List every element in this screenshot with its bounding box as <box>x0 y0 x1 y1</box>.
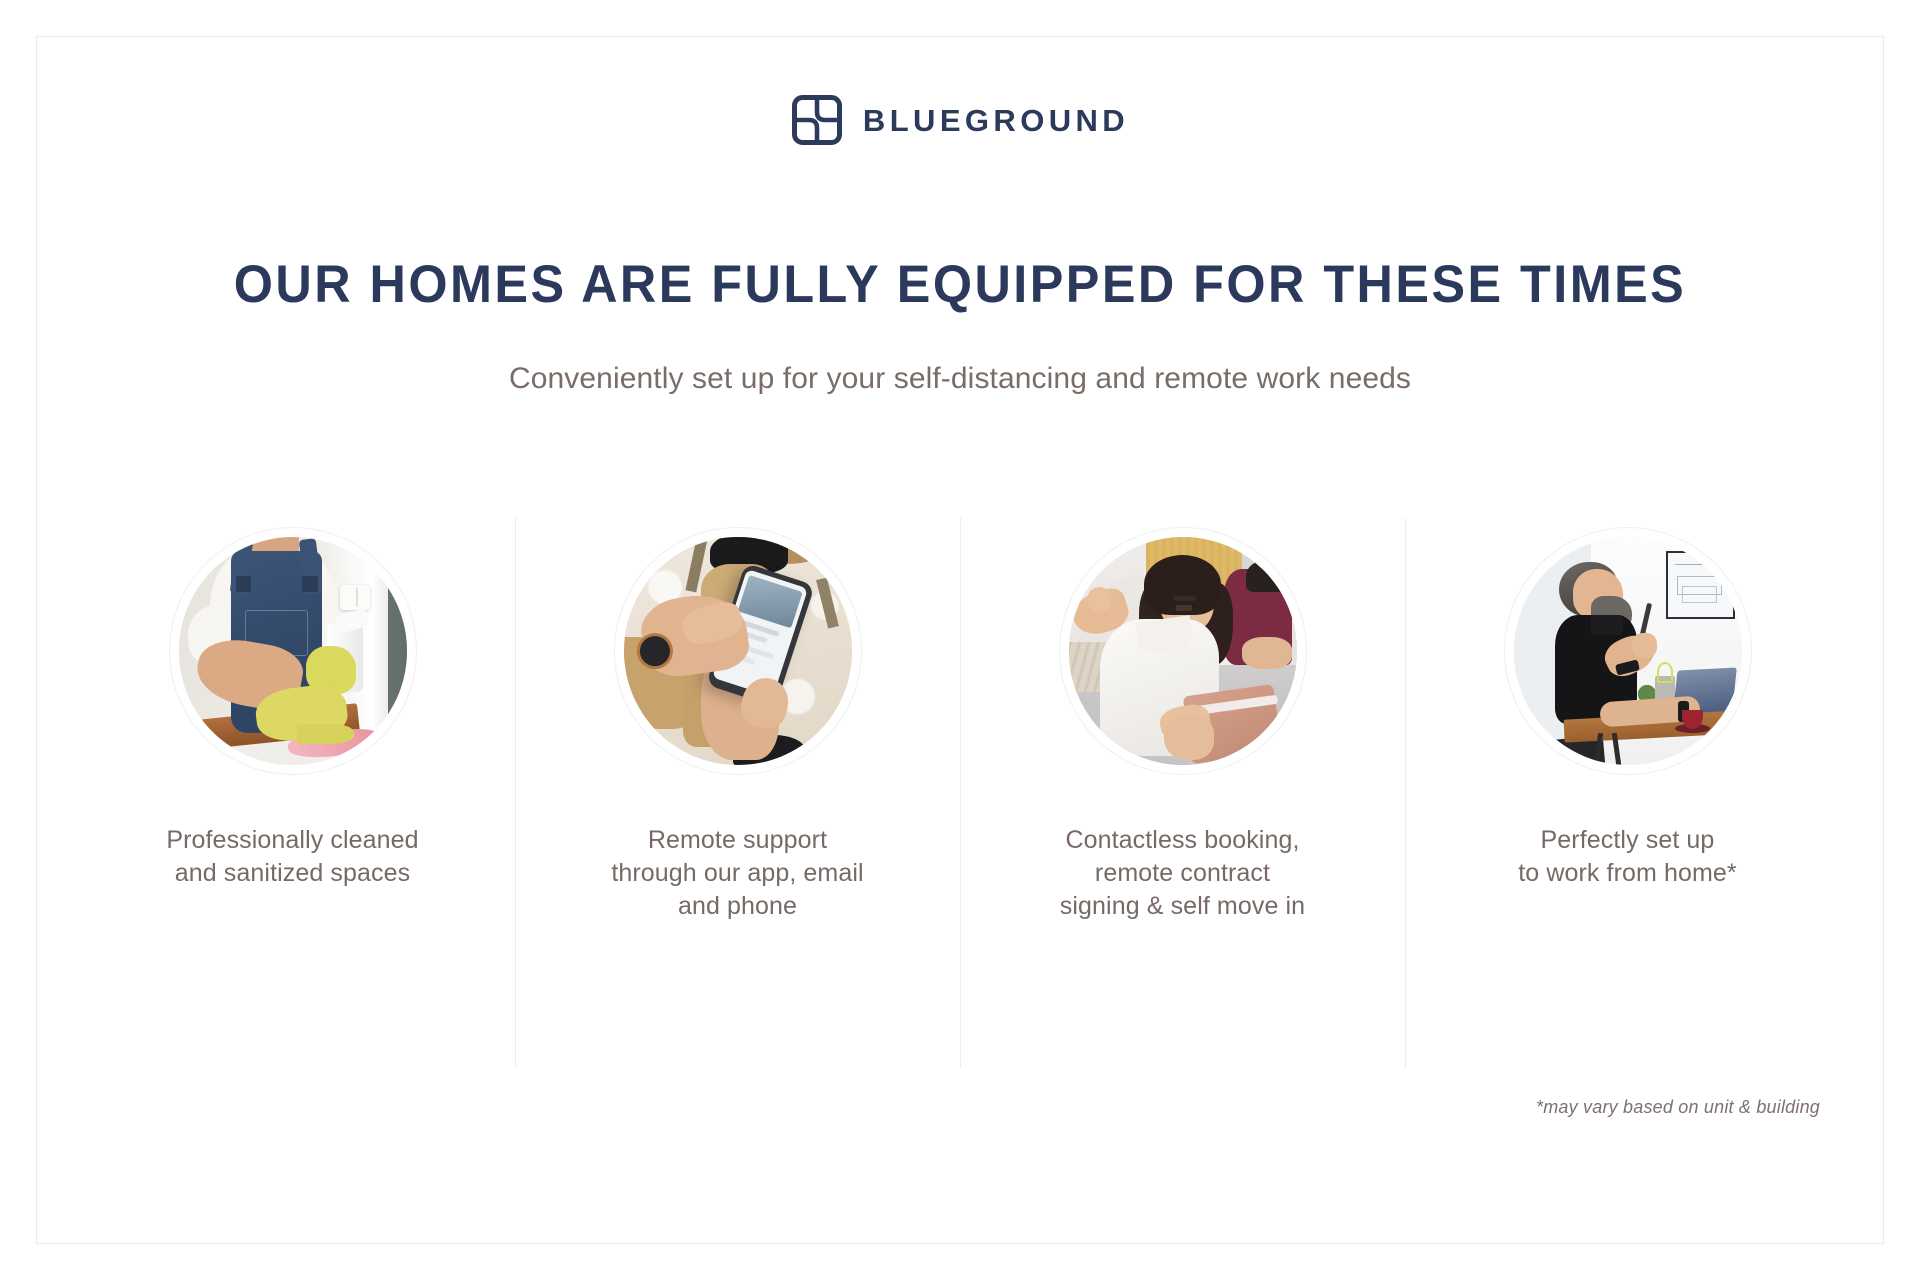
cleaning-professional-photo <box>179 537 407 765</box>
work-from-home-desk-photo <box>1514 537 1742 765</box>
feature-card-cleaning: Professionally cleaned and sanitized spa… <box>70 518 515 1068</box>
feature-card-remote-support: Remote support through our app, email an… <box>515 518 960 1068</box>
feature-caption: Contactless booking, remote contract sig… <box>1060 824 1305 923</box>
feature-card-work-from-home: Perfectly set up to work from home* <box>1405 518 1850 1068</box>
photo-frame <box>614 527 862 775</box>
photo-frame <box>169 527 417 775</box>
blueground-square-logo-icon <box>791 94 843 146</box>
feature-caption: Professionally cleaned and sanitized spa… <box>166 824 418 890</box>
feature-card-contactless-booking: Contactless booking, remote contract sig… <box>960 518 1405 1068</box>
tablet-booking-photo <box>1069 537 1297 765</box>
page-title: OUR HOMES ARE FULLY EQUIPPED FOR THESE T… <box>48 258 1872 311</box>
poster: BLUEGROUND OUR HOMES ARE FULLY EQUIPPED … <box>0 0 1920 1280</box>
brand-wordmark: BLUEGROUND <box>863 105 1129 136</box>
feature-cards: Professionally cleaned and sanitized spa… <box>70 518 1850 1068</box>
feature-caption: Remote support through our app, email an… <box>611 824 863 923</box>
phone-app-support-photo <box>624 537 852 765</box>
footnote-disclaimer: *may vary based on unit & building <box>1536 1097 1820 1118</box>
photo-frame <box>1504 527 1752 775</box>
photo-frame <box>1059 527 1307 775</box>
brand-logo: BLUEGROUND <box>0 94 1920 146</box>
page-subtitle: Conveniently set up for your self-distan… <box>0 360 1920 398</box>
feature-caption: Perfectly set up to work from home* <box>1518 824 1737 890</box>
